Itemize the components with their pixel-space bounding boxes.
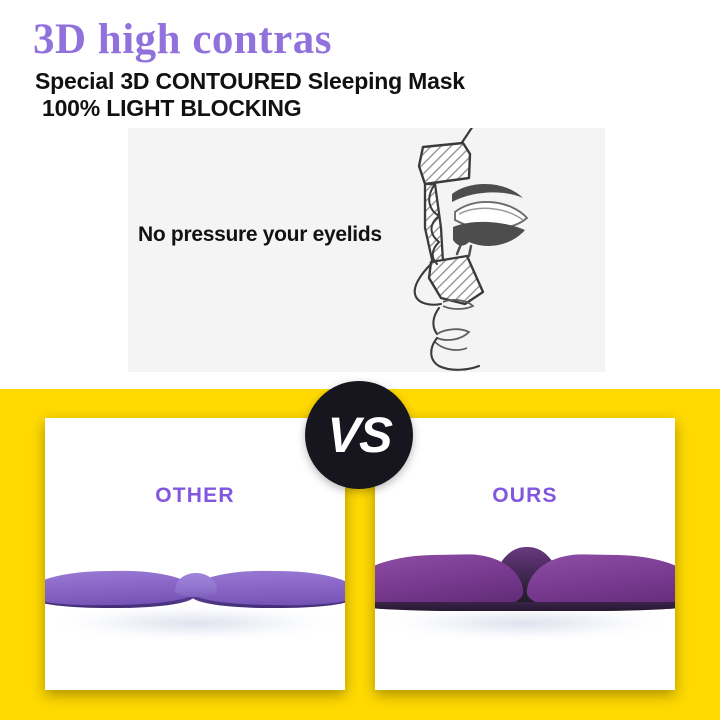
upper-lip-line [433,308,439,334]
diagram-caption: No pressure your eyelids [138,223,438,247]
product-image-other [45,513,345,663]
contoured-mask-shape [375,547,675,619]
vs-badge: VS [305,381,413,489]
product-infographic: 3D high contras Special 3D CONTOURED Sle… [0,0,720,720]
mask-bridge [425,184,443,264]
mask-strap [461,128,481,144]
panel-label-other: OTHER [45,484,345,508]
mask-underside [375,602,675,611]
face-profile-illustration [395,128,605,372]
vs-label: VS [326,410,392,460]
flat-mask-shape [45,565,345,613]
mask-lobe-left [45,570,195,606]
lower-lip [435,342,467,350]
lips [437,329,469,340]
subtitle-line-2: 100% LIGHT BLOCKING [42,95,301,121]
comparison-panel-ours: OURS [375,418,675,690]
diagram-panel: No pressure your eyelids [128,128,605,372]
page-title: 3D high contras [33,17,332,63]
panel-label-ours: OURS [375,484,675,508]
mask-upper-pad [419,143,470,184]
header-section: 3D high contras Special 3D CONTOURED Sle… [0,0,720,128]
eyebrow [452,184,523,202]
subtitle-line-1: Special 3D CONTOURED Sleeping Mask [35,68,465,94]
eyelash-tip [457,244,471,256]
comparison-panel-other: OTHER [45,418,345,690]
chin [431,338,479,370]
product-image-ours [375,513,675,663]
